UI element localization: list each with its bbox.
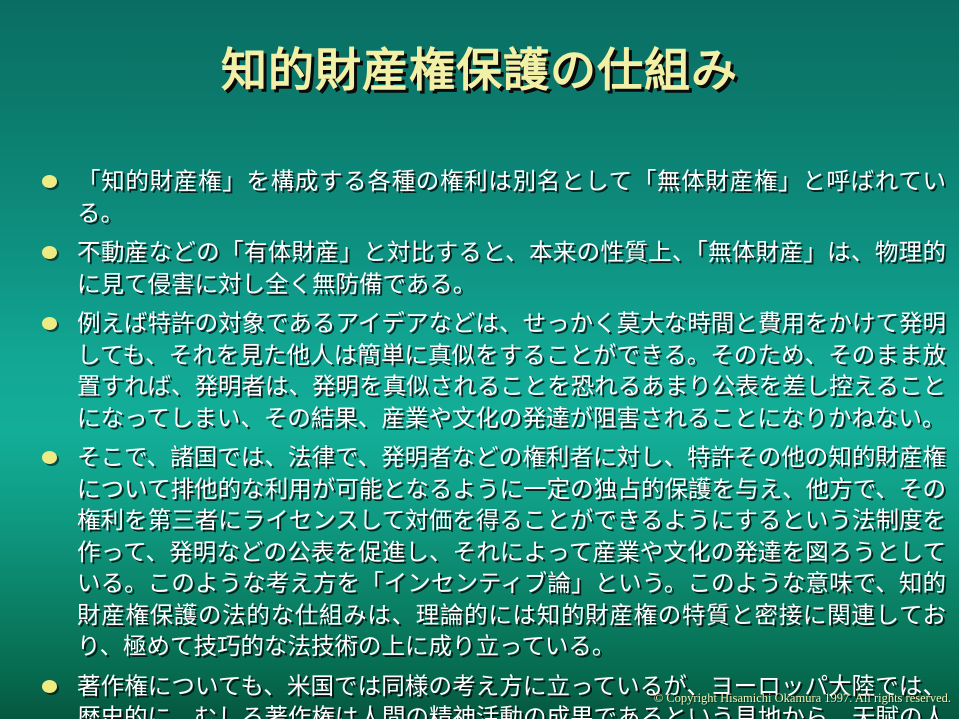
bullet-dot-icon (42, 175, 57, 188)
bullet-dot-icon (42, 451, 57, 464)
page-title: 知的財産権保護の仕組み (0, 42, 959, 98)
bullet-dot-icon (42, 680, 57, 693)
bullet-dot-icon (42, 246, 57, 259)
list-item: 不動産などの「有体財産」と対比すると、本来の性質上、「無体財産」は、物理的に見て… (30, 237, 946, 300)
copyright-notice: © Copyright Hisamichi Okamura 1997. All … (654, 691, 951, 705)
bullet-list: 「知的財産権」を構成する各種の権利は別名として「無体財産権」と呼ばれている。 不… (30, 166, 946, 719)
bullet-dot-icon (42, 317, 57, 330)
list-item-text: 例えば特許の対象であるアイデアなどは、せっかく莫大な時間と費用をかけて発明しても… (77, 308, 946, 434)
list-item-text: 「知的財産権」を構成する各種の権利は別名として「無体財産権」と呼ばれている。 (77, 166, 946, 229)
list-item-text: そこで、諸国では、法律で、発明者などの権利者に対し、特許その他の知的財産権につい… (77, 442, 946, 663)
list-item: 例えば特許の対象であるアイデアなどは、せっかく莫大な時間と費用をかけて発明しても… (30, 308, 946, 434)
list-item-text: 不動産などの「有体財産」と対比すると、本来の性質上、「無体財産」は、物理的に見て… (77, 237, 946, 300)
list-item: そこで、諸国では、法律で、発明者などの権利者に対し、特許その他の知的財産権につい… (30, 442, 946, 663)
presentation-slide: 知的財産権保護の仕組み 「知的財産権」を構成する各種の権利は別名として「無体財産… (0, 0, 959, 719)
list-item: 「知的財産権」を構成する各種の権利は別名として「無体財産権」と呼ばれている。 (30, 166, 946, 229)
